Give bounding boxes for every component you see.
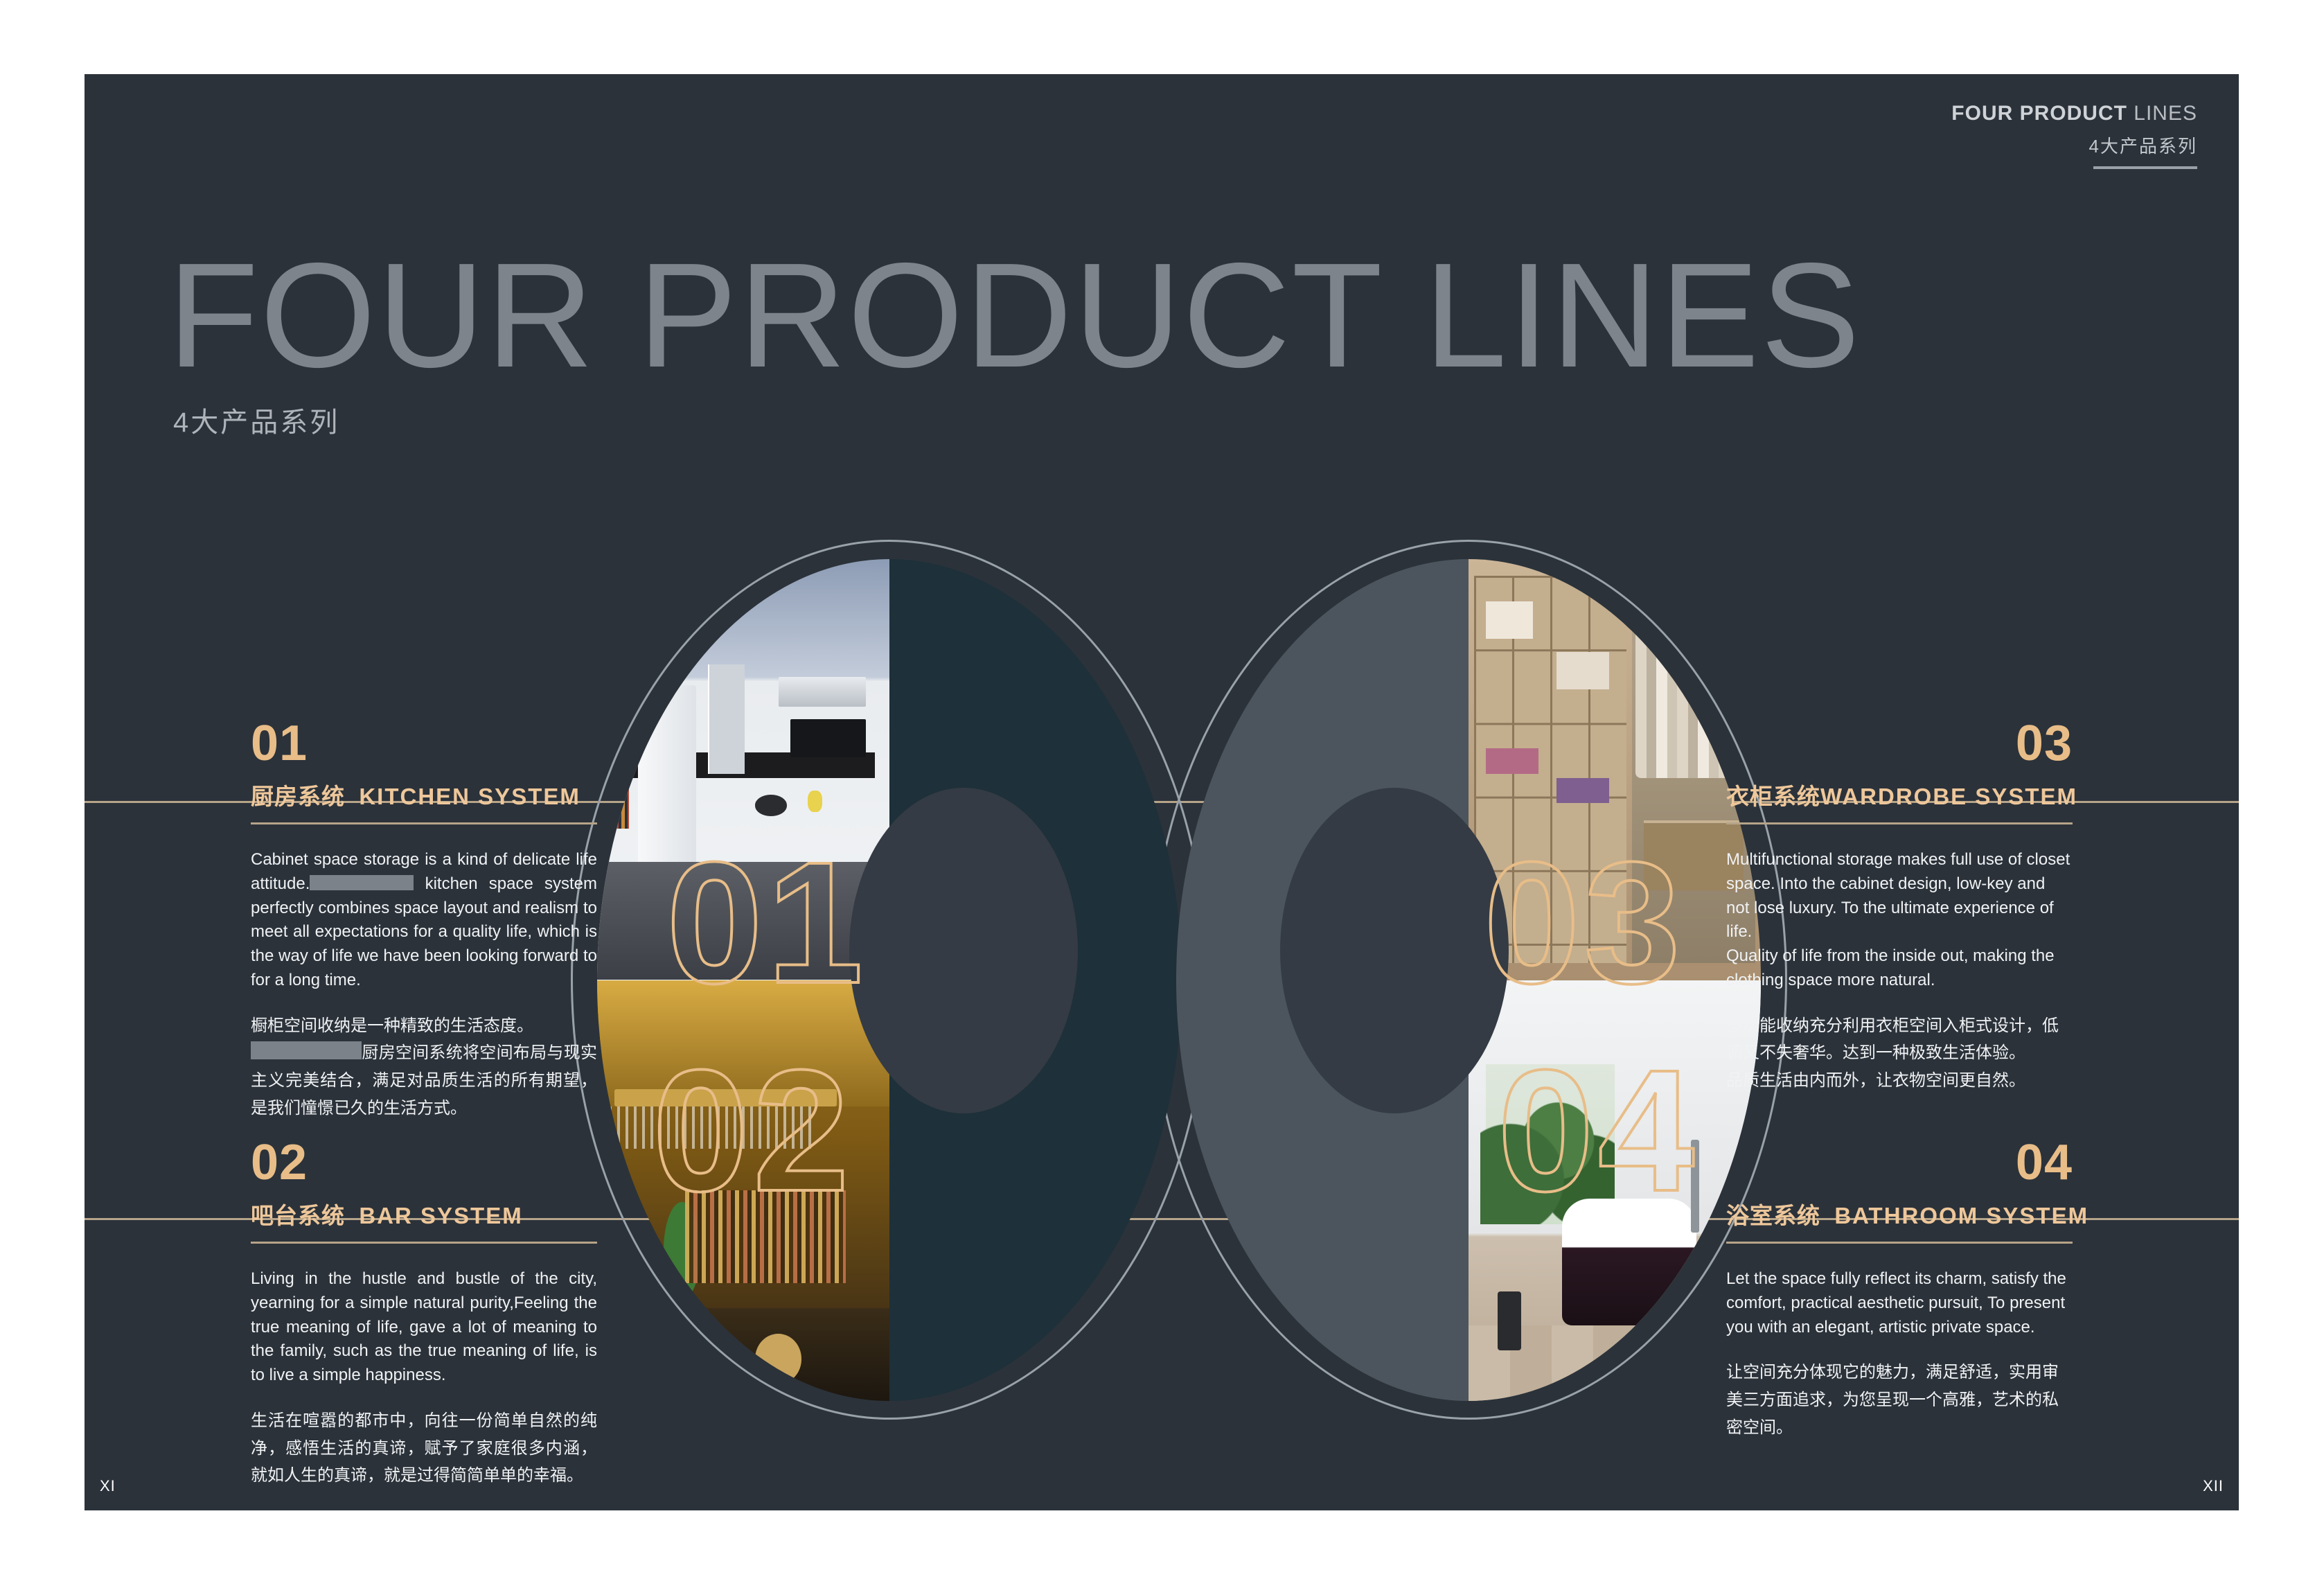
disc-right-photo-half xyxy=(1469,559,1761,1401)
bar-hanging-glasses xyxy=(609,1106,813,1149)
header-english: FOUR PRODUCT LINES xyxy=(1951,102,2197,125)
section-04-heading-cn: 浴室系统 xyxy=(1726,1203,1820,1228)
section-02-heading: 吧台系统 BAR SYSTEM xyxy=(251,1197,597,1230)
bar-stool xyxy=(755,1334,802,1384)
brochure-page: FOUR PRODUCT LINES 4大产品系列 FOUR PRODUCT L… xyxy=(85,74,2239,1510)
photo-bathroom xyxy=(1469,980,1761,1402)
section-02-rule xyxy=(251,1242,597,1244)
section-03-body-cn-part1: 多功能收纳充分利用衣柜空间入柜式设计，低调又不失奢华。达到一种极致生活体验。 xyxy=(1726,1016,2059,1063)
bar-bottles xyxy=(685,1190,846,1283)
section-03: 03 衣柜系统WARDROBE SYSTEM Multifunctional s… xyxy=(1726,718,2073,1095)
wardrobe-storage-box-2 xyxy=(1556,652,1609,690)
bar-counter xyxy=(597,1308,889,1401)
bathroom-bathtub xyxy=(1562,1199,1696,1325)
section-03-rule xyxy=(1726,822,2073,824)
section-03-body-en-part2: Quality of life from the inside out, mak… xyxy=(1726,946,2055,989)
section-04-body-en: Let the space fully reflect its charm, s… xyxy=(1726,1267,2073,1339)
wardrobe-folded-textile-2 xyxy=(1556,778,1609,803)
section-03-heading: 衣柜系统WARDROBE SYSTEM xyxy=(1726,778,2073,811)
section-02: 02 吧台系统 BAR SYSTEM Living in the hustle … xyxy=(251,1138,597,1490)
photo-bar xyxy=(597,980,889,1402)
section-03-body-en-part1: Multifunctional storage makes full use o… xyxy=(1726,850,2070,941)
photo-kitchen xyxy=(597,559,889,980)
section-01-body-en: Cabinet space storage is a kind of delic… xyxy=(251,848,597,993)
section-03-heading-en: WARDROBE SYSTEM xyxy=(1820,784,2077,809)
bathroom-bin xyxy=(1498,1291,1521,1350)
section-02-number: 02 xyxy=(251,1138,597,1188)
disc-left-photo-half xyxy=(597,559,889,1401)
redaction-block-en xyxy=(310,875,414,890)
section-04-heading-en: BATHROOM SYSTEM xyxy=(1834,1203,2088,1228)
section-01: 01 厨房系统 KITCHEN SYSTEM Cabinet space sto… xyxy=(251,718,597,1122)
page-title: FOUR PRODUCT LINES xyxy=(168,240,1861,389)
wardrobe-folded-textile-1 xyxy=(1486,748,1538,773)
kitchen-range-hood xyxy=(779,677,867,707)
circle-graphic: 01 02 03 04 xyxy=(597,559,1761,1432)
section-03-body-cn-part2: 品质生活由内而外，让衣物空间更自然。 xyxy=(1726,1071,2025,1090)
header-chinese: 4大产品系列 xyxy=(1951,132,2197,158)
section-01-rule xyxy=(251,822,597,824)
section-02-body-cn: 生活在喧嚣的都市中，向往一份简单自然的纯净，感悟生活的真谛，赋予了家庭很多内涵，… xyxy=(251,1407,597,1490)
section-01-body-cn-part1: 橱柜空间收纳是一种精致的生活态度。 xyxy=(251,1016,533,1035)
section-01-body-cn: 橱柜空间收纳是一种精致的生活态度。厨房空间系统将空间布局与现实主义完美结合，满足… xyxy=(251,1012,597,1122)
kitchen-oven xyxy=(790,719,867,757)
redaction-block-cn xyxy=(251,1041,362,1059)
section-03-body-en: Multifunctional storage makes full use o… xyxy=(1726,848,2073,993)
header-rule xyxy=(2093,166,2197,169)
bar-rail xyxy=(614,1089,837,1106)
kitchen-fridge xyxy=(638,685,696,870)
section-04-heading: 浴室系统 BATHROOM SYSTEM xyxy=(1726,1197,2073,1230)
section-02-heading-cn: 吧台系统 xyxy=(251,1203,345,1228)
page-number-right: XII xyxy=(2203,1477,2224,1495)
donut-hole-left xyxy=(849,788,1078,1113)
section-04-body-cn: 让空间充分体现它的魅力，满足舒适，实用审美三方面追求，为您呈现一个高雅，艺术的私… xyxy=(1726,1359,2073,1441)
page-subtitle: 4大产品系列 xyxy=(173,400,339,440)
bar-ceiling xyxy=(597,980,889,1106)
section-03-heading-cn: 衣柜系统 xyxy=(1726,784,1820,809)
kitchen-fruit xyxy=(808,791,822,811)
section-01-number: 01 xyxy=(251,718,597,768)
kitchen-pan xyxy=(755,795,787,815)
wardrobe-storage-box-1 xyxy=(1486,601,1533,639)
header-mark: FOUR PRODUCT LINES 4大产品系列 xyxy=(1951,102,2197,169)
section-04-number: 04 xyxy=(1726,1138,2073,1188)
section-01-heading: 厨房系统 KITCHEN SYSTEM xyxy=(251,778,597,811)
header-english-bold: FOUR PRODUCT xyxy=(1951,102,2127,125)
header-english-light: LINES xyxy=(2134,102,2197,125)
section-01-heading-cn: 厨房系统 xyxy=(251,784,345,809)
section-02-heading-en: BAR SYSTEM xyxy=(359,1203,522,1228)
section-04-rule xyxy=(1726,1242,2073,1244)
section-03-body-cn: 多功能收纳充分利用衣柜空间入柜式设计，低调又不失奢华。达到一种极致生活体验。品质… xyxy=(1726,1012,2073,1095)
section-02-body-en: Living in the hustle and bustle of the c… xyxy=(251,1267,597,1388)
kitchen-bottles xyxy=(603,744,629,829)
page-number-left: XI xyxy=(100,1477,116,1495)
kitchen-shelf xyxy=(708,664,745,774)
bathroom-faucet xyxy=(1691,1140,1700,1233)
donut-hole-right xyxy=(1280,788,1509,1113)
section-04: 04 浴室系统 BATHROOM SYSTEM Let the space fu… xyxy=(1726,1138,2073,1441)
photo-wardrobe xyxy=(1469,559,1761,980)
section-03-number: 03 xyxy=(1726,718,2073,768)
section-01-heading-en: KITCHEN SYSTEM xyxy=(359,784,580,809)
